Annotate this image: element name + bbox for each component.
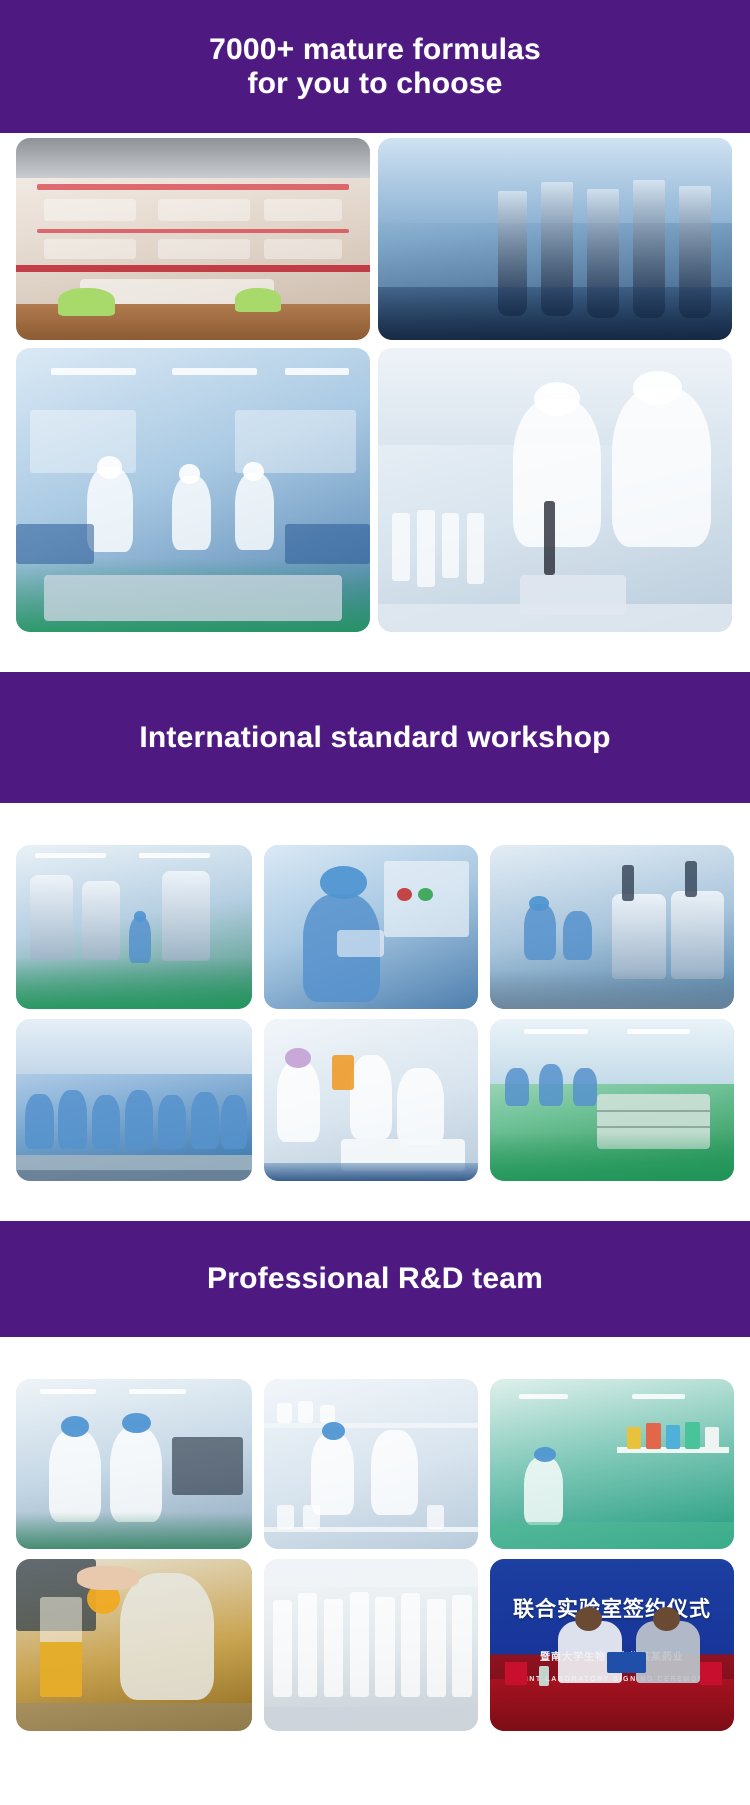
gallery-rnd-team-row-2: 联合实验室签约仪式 暨南大学生物 · 广州某某药业 JOINT LABORATO… — [16, 1559, 734, 1731]
spacer — [0, 632, 750, 672]
photo-production-tanks[interactable] — [16, 845, 252, 1009]
banner-formulas: 7000+ mature formulas for you to choose — [0, 0, 750, 133]
ceremony-water-bottle — [539, 1666, 549, 1687]
photo-scientists-lab[interactable] — [16, 1379, 252, 1549]
gallery-formulas-row-2 — [16, 348, 734, 632]
photo-mixing-vessels[interactable] — [490, 845, 734, 1009]
photo-sample-shelf-review[interactable] — [264, 1379, 478, 1549]
banner-formulas-title-line-1: 7000+ mature formulas — [209, 33, 541, 67]
ceremony-table — [490, 1679, 734, 1731]
photo-bottle-inspection[interactable] — [264, 1559, 478, 1731]
ceremony-headline: 联合实验室签约仪式 — [490, 1593, 734, 1623]
photo-cleanroom-filling[interactable] — [264, 1019, 478, 1181]
gallery-formulas — [0, 138, 750, 632]
photo-pouring-sample[interactable] — [16, 1559, 252, 1731]
photo-signing-ceremony[interactable]: 联合实验室签约仪式 暨南大学生物 · 广州某某药业 JOINT LABORATO… — [490, 1559, 734, 1731]
spacer — [0, 1337, 750, 1379]
flag-left-icon — [505, 1662, 527, 1684]
gallery-workshop-row-2 — [16, 1019, 734, 1181]
spacer — [0, 803, 750, 845]
banner-rnd-team: Professional R&D team — [0, 1221, 750, 1337]
photo-assembly-line[interactable] — [16, 1019, 252, 1181]
gallery-rnd-team-row-1 — [16, 1379, 734, 1549]
banner-rnd-team-title: Professional R&D team — [207, 1262, 543, 1296]
photo-showroom[interactable] — [16, 138, 370, 340]
flag-right-icon — [700, 1662, 722, 1684]
gallery-formulas-row-1 — [16, 138, 734, 340]
photo-warehouse-pallets[interactable] — [490, 1019, 734, 1181]
spacer — [0, 1181, 750, 1221]
banner-workshop: International standard workshop — [0, 672, 750, 803]
ceremony-document — [607, 1652, 646, 1673]
gallery-rnd-team: 联合实验室签约仪式 暨南大学生物 · 广州某某药业 JOINT LABORATO… — [0, 1379, 750, 1731]
banner-formulas-title-line-2: for you to choose — [247, 67, 502, 101]
banner-workshop-title: International standard workshop — [139, 721, 610, 755]
photo-clean-laboratory[interactable] — [16, 348, 370, 632]
photo-flasks[interactable] — [378, 138, 732, 340]
gallery-workshop — [0, 845, 750, 1181]
gallery-workshop-row-1 — [16, 845, 734, 1009]
photo-formulation-bench[interactable] — [490, 1379, 734, 1549]
photo-operator-control-panel[interactable] — [264, 845, 478, 1009]
photo-researchers-weighing[interactable] — [378, 348, 732, 632]
